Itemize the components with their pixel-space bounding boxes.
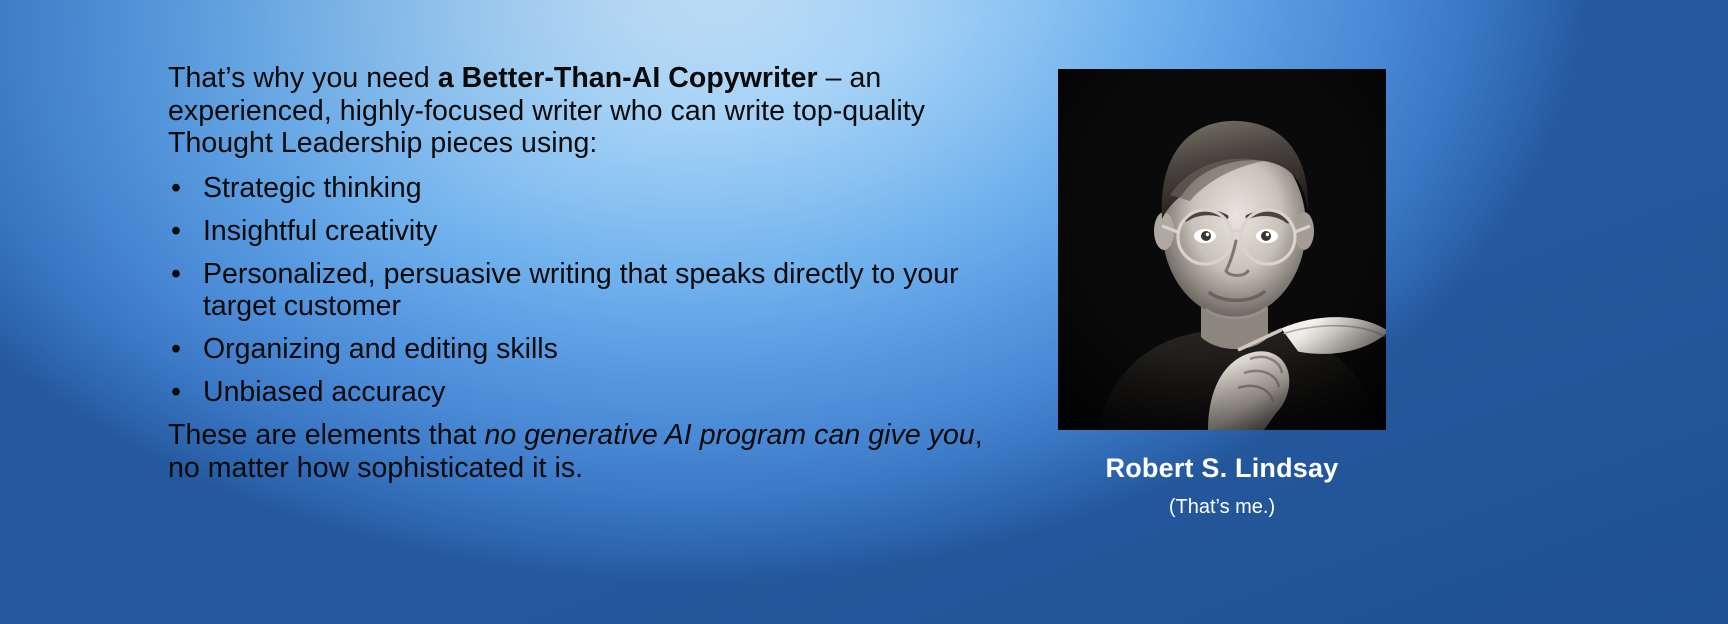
photo-column: Robert S. Lindsay (That’s me.) (1058, 69, 1386, 519)
list-item-label: Strategic thinking (203, 172, 422, 204)
bullet-point-icon: • (171, 376, 181, 409)
list-item-label: Personalized, persuasive writing that sp… (203, 258, 959, 323)
intro-text-before-bold: That’s why you need (168, 62, 438, 94)
list-item-label: Organizing and editing skills (203, 333, 558, 365)
benefits-bullet-list: • Strategic thinking • Insightful creati… (168, 172, 1008, 409)
list-item: • Strategic thinking (168, 172, 1008, 205)
closing-paragraph: These are elements that no generative AI… (168, 419, 1008, 484)
portrait-photo (1058, 69, 1386, 430)
list-item-label: Unbiased accuracy (203, 376, 445, 408)
closing-text-before-italic: These are elements that (168, 419, 484, 451)
list-item: • Unbiased accuracy (168, 376, 1008, 409)
intro-emphasis: a Better-Than-AI Copywriter (438, 62, 818, 94)
person-name: Robert S. Lindsay (1058, 452, 1386, 484)
slide-canvas: That’s why you need a Better-Than-AI Cop… (0, 0, 1728, 624)
bullet-point-icon: • (171, 258, 181, 291)
list-item: • Personalized, persuasive writing that … (168, 258, 1008, 323)
list-item: • Organizing and editing skills (168, 333, 1008, 366)
portrait-photo-frame (1058, 69, 1386, 430)
bullet-point-icon: • (171, 333, 181, 366)
bullet-point-icon: • (171, 215, 181, 248)
list-item: • Insightful creativity (168, 215, 1008, 248)
bullet-point-icon: • (171, 172, 181, 205)
person-subtitle: (That’s me.) (1058, 495, 1386, 519)
closing-emphasis: no generative AI program can give you (484, 419, 974, 451)
text-column: That’s why you need a Better-Than-AI Cop… (168, 62, 1008, 484)
list-item-label: Insightful creativity (203, 215, 437, 247)
intro-paragraph: That’s why you need a Better-Than-AI Cop… (168, 62, 1008, 160)
slide-content: That’s why you need a Better-Than-AI Cop… (0, 0, 1728, 624)
